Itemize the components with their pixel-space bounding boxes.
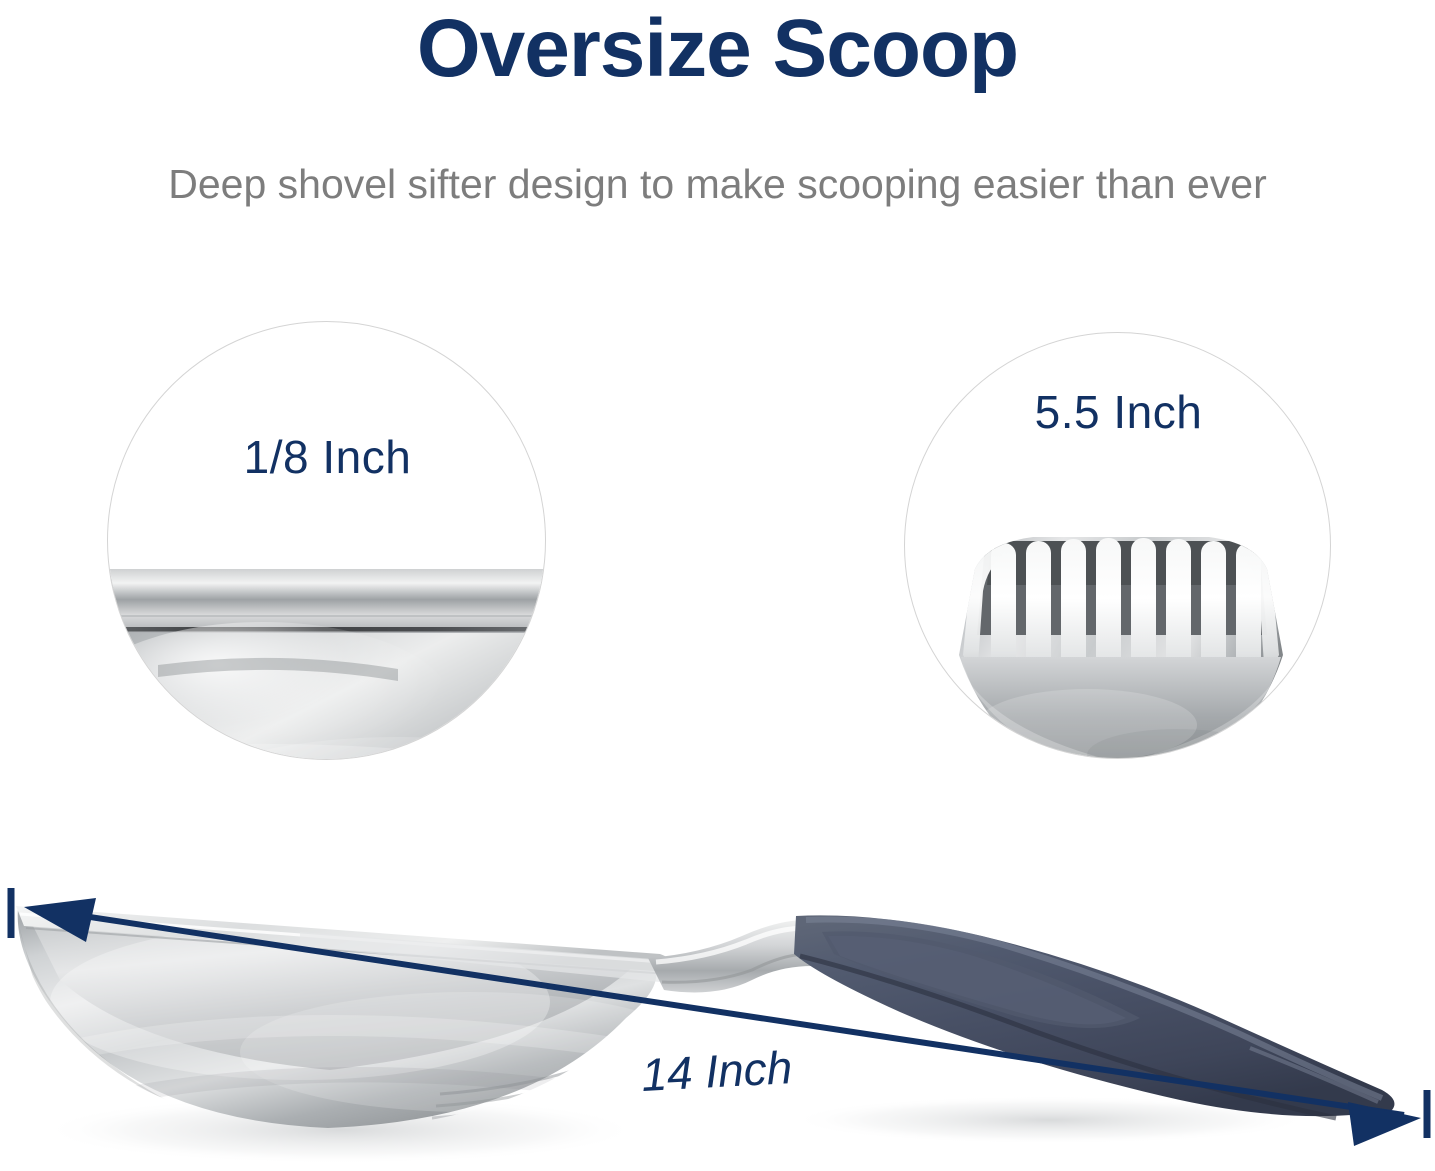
scoop-product-photo (0, 862, 1435, 1171)
width-label: 5.5 Inch (905, 385, 1331, 439)
thickness-callout-circle: 1/8 Inch (107, 321, 546, 760)
width-callout-circle: 5.5 Inch (904, 332, 1331, 759)
sifter-head-photo (947, 529, 1293, 759)
scoop-edge-photo (107, 557, 546, 760)
thickness-label: 1/8 Inch (108, 430, 546, 484)
length-label: 14 Inch (640, 1040, 794, 1102)
product-infographic: Oversize Scoop Deep shovel sifter design… (0, 0, 1435, 1171)
page-title: Oversize Scoop (0, 6, 1435, 92)
page-subtitle: Deep shovel sifter design to make scoopi… (0, 162, 1435, 207)
